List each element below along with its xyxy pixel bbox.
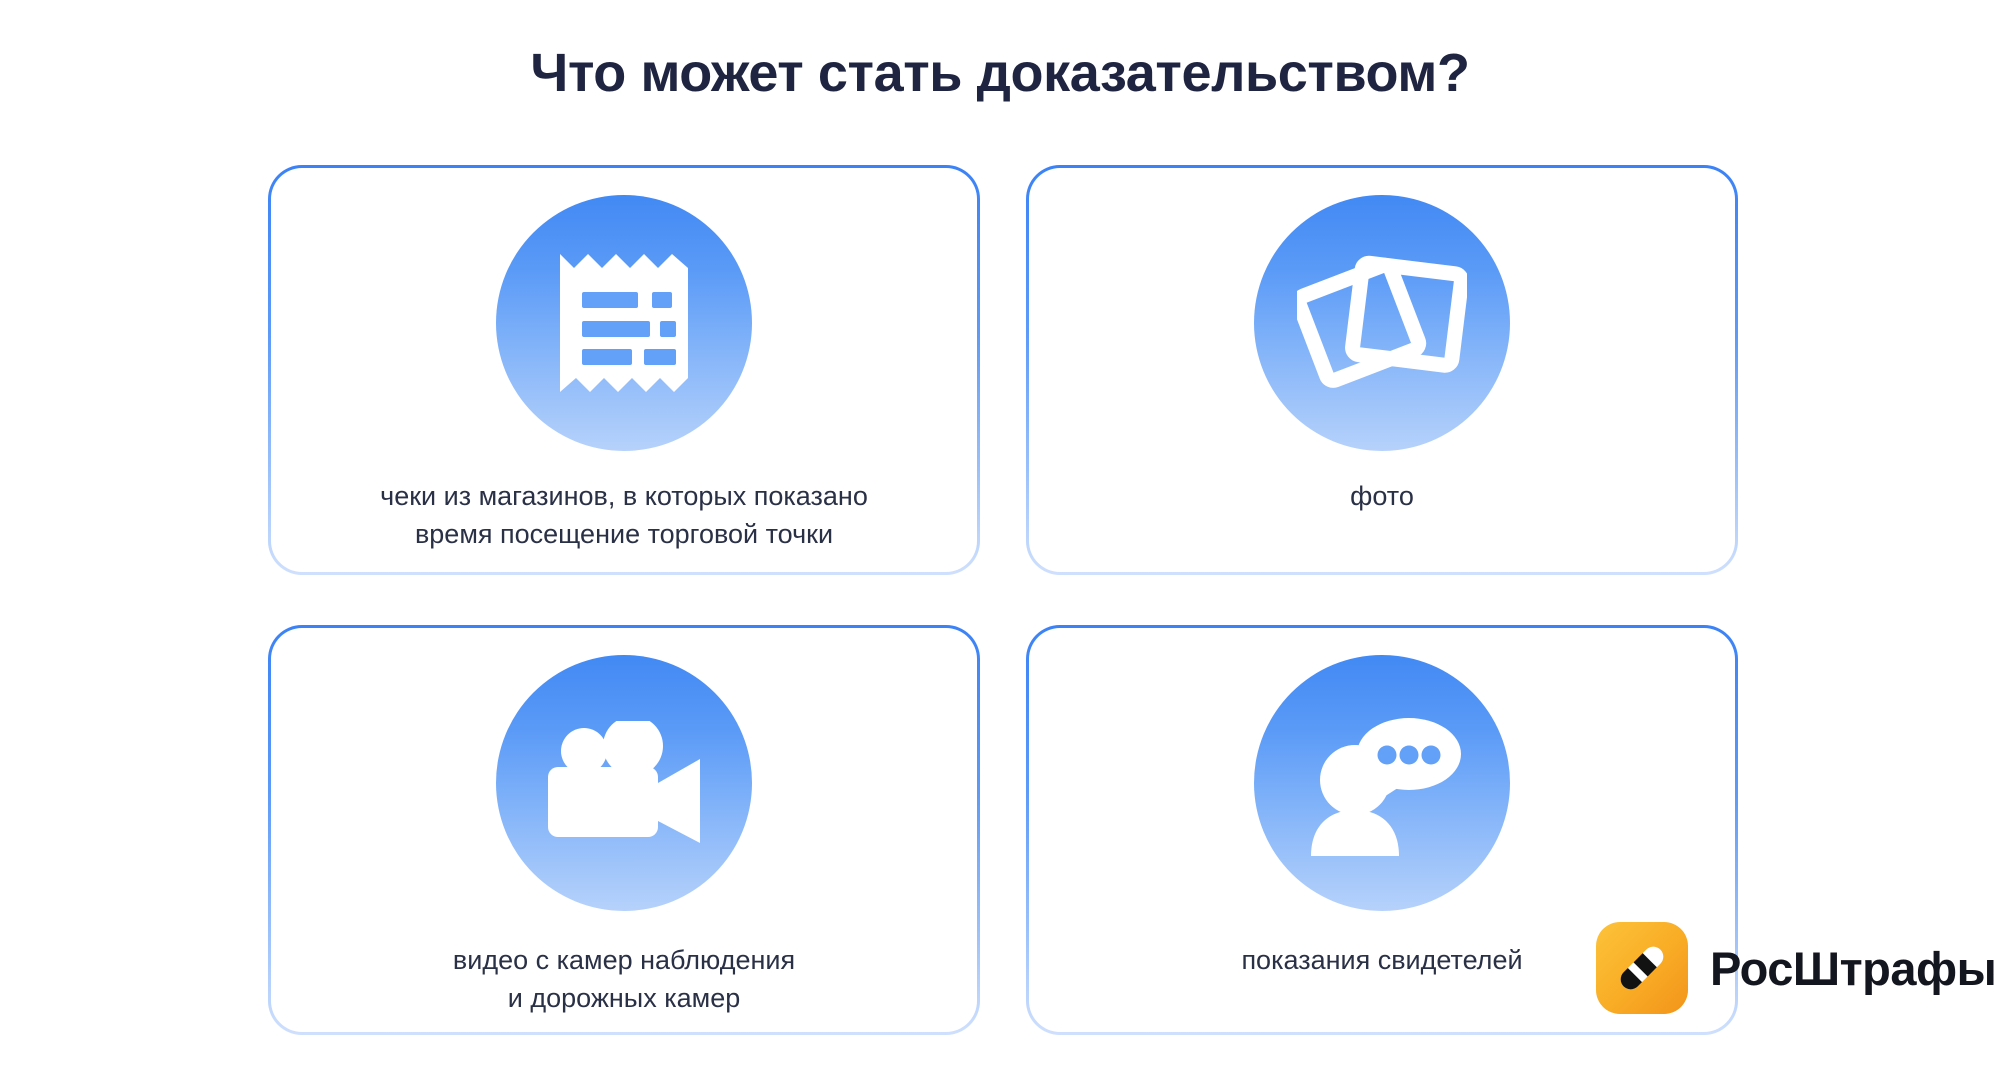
video-camera-icon xyxy=(540,721,708,845)
receipt-icon xyxy=(556,248,692,398)
brand-logo[interactable]: РосШтрафы xyxy=(1596,922,1996,1014)
card-caption: чеки из магазинов, в которых показано вр… xyxy=(274,477,974,554)
photos-icon xyxy=(1297,248,1467,398)
page-title: Что может стать доказательством? xyxy=(0,42,2000,104)
police-baton-icon xyxy=(1596,922,1688,1014)
card-video[interactable]: видео с камер наблюдения и дорожных каме… xyxy=(268,625,980,1035)
card-caption: видео с камер наблюдения и дорожных каме… xyxy=(274,941,974,1018)
card-photos[interactable]: фото xyxy=(1026,165,1738,575)
witness-speech-icon xyxy=(1297,708,1467,858)
evidence-card-grid: чеки из магазинов, в которых показано вр… xyxy=(268,165,1738,1035)
icon-circle xyxy=(1254,195,1510,451)
card-receipts[interactable]: чеки из магазинов, в которых показано вр… xyxy=(268,165,980,575)
icon-circle xyxy=(496,195,752,451)
card-caption: фото xyxy=(1032,477,1732,515)
infographic-page: Что может стать доказательством? xyxy=(0,0,2000,1086)
card-inner: фото xyxy=(1032,171,1732,569)
logo-text: РосШтрафы xyxy=(1710,941,1996,996)
icon-circle xyxy=(1254,655,1510,911)
card-inner: чеки из магазинов, в которых показано вр… xyxy=(274,171,974,569)
card-inner: видео с камер наблюдения и дорожных каме… xyxy=(274,631,974,1029)
icon-circle xyxy=(496,655,752,911)
